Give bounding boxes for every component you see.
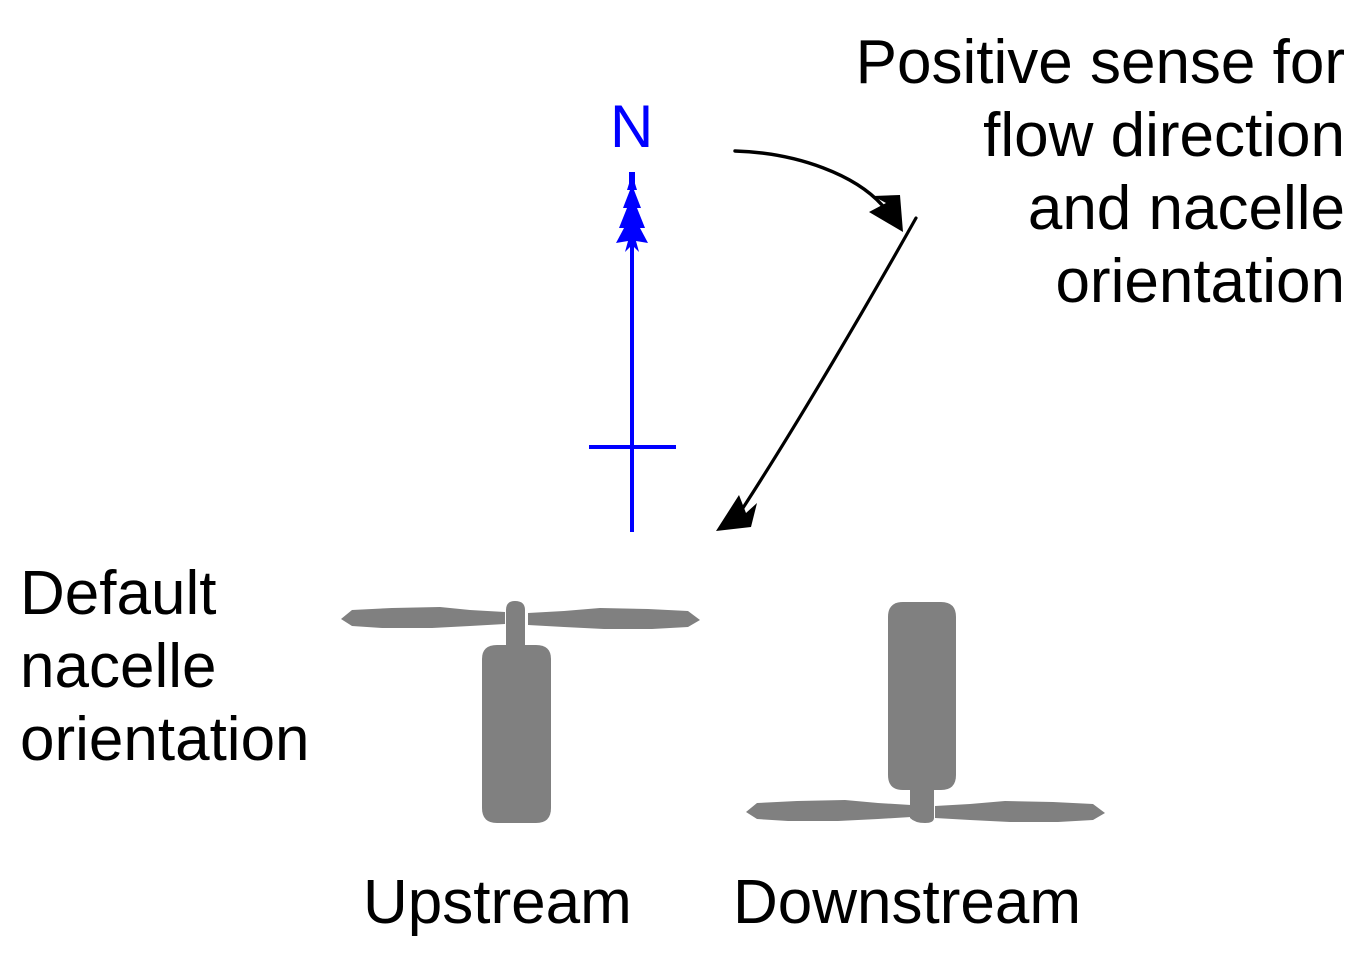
turbine-downstream-graphic <box>746 602 1105 823</box>
diagram-canvas: Positive sense for flow direction and na… <box>0 0 1371 954</box>
north-label: N <box>610 92 653 163</box>
label-downstream: Downstream <box>733 866 1081 939</box>
label-upstream: Upstream <box>363 866 632 939</box>
annotation-positive-sense-text: Positive sense for flow direction and na… <box>856 26 1345 319</box>
annotation-default-orientation-text: Default nacelle orientation <box>20 557 310 776</box>
north-arrow-icon <box>616 172 648 532</box>
turbine-upstream-graphic <box>341 601 700 823</box>
